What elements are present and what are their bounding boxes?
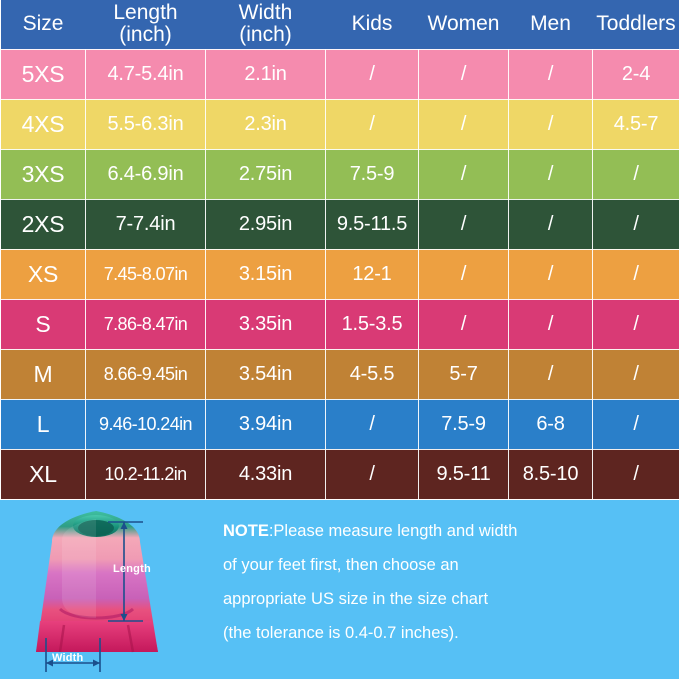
cell-toddlers: /	[593, 399, 679, 449]
table-header: Size Length (inch) Width (inch) Kids Wom…	[1, 0, 679, 49]
cell-width: 2.3in	[206, 99, 326, 149]
cell-size: XL	[1, 449, 86, 499]
cell-length: 5.5-6.3in	[86, 99, 206, 149]
cell-women: /	[419, 299, 509, 349]
cell-men: /	[509, 199, 593, 249]
cell-size: M	[1, 349, 86, 399]
cell-kids: 12-1	[326, 249, 419, 299]
table-row: 2XS7-7.4in2.95in9.5-11.5///	[1, 199, 679, 249]
column-header-men: Men	[509, 0, 593, 49]
cell-women: /	[419, 149, 509, 199]
cell-length: 7.45-8.07in	[86, 249, 206, 299]
cell-size: XS	[1, 249, 86, 299]
cell-size: S	[1, 299, 86, 349]
cell-toddlers: /	[593, 349, 679, 399]
note-line-1-text: :Please measure length and width	[269, 522, 518, 540]
cell-men: /	[509, 149, 593, 199]
table-row: 4XS5.5-6.3in2.3in///4.5-7	[1, 99, 679, 149]
cell-women: 7.5-9	[419, 399, 509, 449]
cell-toddlers: /	[593, 299, 679, 349]
cell-kids: /	[326, 449, 419, 499]
cell-men: /	[509, 99, 593, 149]
table-row: XS7.45-8.07in3.15in12-1///	[1, 249, 679, 299]
fin-icon	[0, 500, 215, 679]
column-header-width-main: Width	[239, 1, 293, 24]
note-line-3: appropriate US size in the size chart	[223, 582, 659, 616]
cell-width: 3.35in	[206, 299, 326, 349]
cell-length: 8.66-9.45in	[86, 349, 206, 399]
length-dimension-label: Length	[113, 563, 151, 575]
cell-men: /	[509, 299, 593, 349]
table-row: L9.46-10.24in3.94in/7.5-96-8/	[1, 399, 679, 449]
cell-toddlers: 2-4	[593, 49, 679, 99]
note-text-block: NOTE:Please measure length and width of …	[215, 500, 679, 679]
column-header-men-main: Men	[530, 12, 571, 35]
cell-toddlers: 4.5-7	[593, 99, 679, 149]
note-line-1: NOTE:Please measure length and width	[223, 514, 659, 548]
column-header-size: Size	[1, 0, 86, 49]
column-header-length-main: Length	[113, 1, 177, 24]
column-header-women-main: Women	[428, 12, 500, 35]
cell-length: 7.86-8.47in	[86, 299, 206, 349]
column-header-kids: Kids	[326, 0, 419, 49]
note-line-2: of your feet first, then choose an	[223, 548, 659, 582]
cell-width: 4.33in	[206, 449, 326, 499]
cell-width: 3.15in	[206, 249, 326, 299]
fin-highlight	[62, 519, 96, 618]
cell-length: 10.2-11.2in	[86, 449, 206, 499]
width-dimension-label: Width	[52, 652, 83, 664]
cell-men: /	[509, 249, 593, 299]
cell-kids: /	[326, 99, 419, 149]
table-row: 3XS6.4-6.9in2.75in7.5-9///	[1, 149, 679, 199]
cell-width: 2.95in	[206, 199, 326, 249]
cell-women: /	[419, 199, 509, 249]
table-row: XL10.2-11.2in4.33in/9.5-118.5-10/	[1, 449, 679, 499]
fin-blade-lower	[36, 621, 158, 652]
table-row: M8.66-9.45in3.54in4-5.55-7//	[1, 349, 679, 399]
column-header-length: Length (inch)	[86, 0, 206, 49]
table-row: S7.86-8.47in3.35in1.5-3.5///	[1, 299, 679, 349]
cell-width: 2.1in	[206, 49, 326, 99]
cell-width: 3.54in	[206, 349, 326, 399]
cell-toddlers: /	[593, 149, 679, 199]
column-header-size-main: Size	[23, 12, 64, 35]
size-chart-page: Size Length (inch) Width (inch) Kids Wom…	[0, 0, 679, 679]
column-header-toddlers: Toddlers	[593, 0, 679, 49]
column-header-toddlers-main: Toddlers	[596, 12, 675, 35]
cell-women: /	[419, 49, 509, 99]
cell-women: /	[419, 249, 509, 299]
cell-size: 5XS	[1, 49, 86, 99]
cell-kids: /	[326, 49, 419, 99]
cell-women: /	[419, 99, 509, 149]
cell-women: 5-7	[419, 349, 509, 399]
cell-length: 7-7.4in	[86, 199, 206, 249]
column-header-width-unit: (inch)	[207, 24, 325, 46]
note-prefix: NOTE	[223, 522, 269, 540]
cell-length: 4.7-5.4in	[86, 49, 206, 99]
cell-size: 2XS	[1, 199, 86, 249]
cell-men: /	[509, 49, 593, 99]
cell-length: 6.4-6.9in	[86, 149, 206, 199]
column-header-width: Width (inch)	[206, 0, 326, 49]
cell-men: /	[509, 349, 593, 399]
size-chart-table: Size Length (inch) Width (inch) Kids Wom…	[0, 0, 679, 500]
cell-toddlers: /	[593, 199, 679, 249]
width-arrow-right	[93, 659, 100, 666]
cell-size: L	[1, 399, 86, 449]
cell-kids: 9.5-11.5	[326, 199, 419, 249]
cell-women: 9.5-11	[419, 449, 509, 499]
column-header-length-unit: (inch)	[87, 24, 205, 46]
cell-width: 3.94in	[206, 399, 326, 449]
cell-size: 3XS	[1, 149, 86, 199]
footer-note-panel: Length Width NOTE:Please measure length …	[0, 500, 679, 679]
cell-men: 6-8	[509, 399, 593, 449]
swim-fin-illustration: Length	[0, 500, 215, 679]
column-header-women: Women	[419, 0, 509, 49]
cell-toddlers: /	[593, 249, 679, 299]
cell-toddlers: /	[593, 449, 679, 499]
cell-kids: 7.5-9	[326, 149, 419, 199]
cell-kids: /	[326, 399, 419, 449]
table-row: 5XS4.7-5.4in2.1in///2-4	[1, 49, 679, 99]
column-header-kids-main: Kids	[352, 12, 393, 35]
cell-width: 2.75in	[206, 149, 326, 199]
fin-diagram-panel: Length Width	[0, 500, 215, 679]
cell-men: 8.5-10	[509, 449, 593, 499]
cell-kids: 1.5-3.5	[326, 299, 419, 349]
cell-kids: 4-5.5	[326, 349, 419, 399]
table-body: 5XS4.7-5.4in2.1in///2-44XS5.5-6.3in2.3in…	[1, 49, 679, 499]
cell-size: 4XS	[1, 99, 86, 149]
header-row: Size Length (inch) Width (inch) Kids Wom…	[1, 0, 679, 49]
note-line-4: (the tolerance is 0.4-0.7 inches).	[223, 616, 659, 650]
cell-length: 9.46-10.24in	[86, 399, 206, 449]
